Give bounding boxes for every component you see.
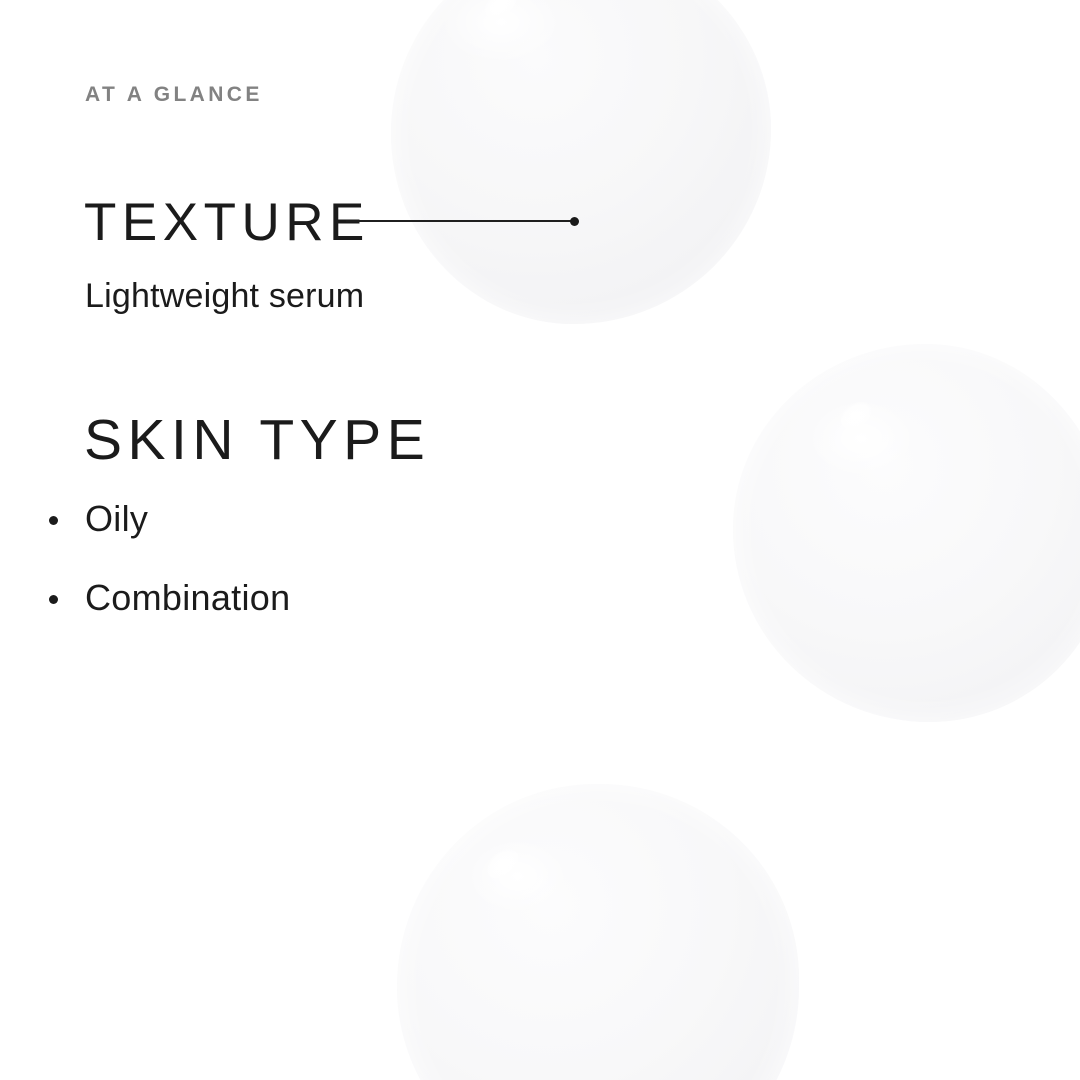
list-item: Oily	[46, 500, 290, 538]
at-a-glance-card: AT A GLANCE TEXTURE Lightweight serum SK…	[0, 0, 1080, 1080]
skin-type-heading: SKIN TYPE	[84, 412, 430, 469]
list-item-label: Oily	[85, 498, 148, 539]
eyebrow-label: AT A GLANCE	[85, 84, 263, 105]
bullet-dot-icon	[49, 516, 58, 525]
texture-leader-line	[346, 219, 582, 229]
content-layer: AT A GLANCE TEXTURE Lightweight serum SK…	[0, 0, 1080, 1080]
leader-line-stroke	[346, 220, 576, 222]
texture-value: Lightweight serum	[85, 279, 364, 313]
bullet-dot-icon	[49, 595, 58, 604]
skin-type-list: Oily Combination	[46, 500, 290, 617]
leader-endpoint-dot-icon	[570, 217, 579, 226]
texture-heading: TEXTURE	[84, 196, 370, 249]
list-item: Combination	[46, 579, 290, 617]
list-item-label: Combination	[85, 577, 290, 618]
